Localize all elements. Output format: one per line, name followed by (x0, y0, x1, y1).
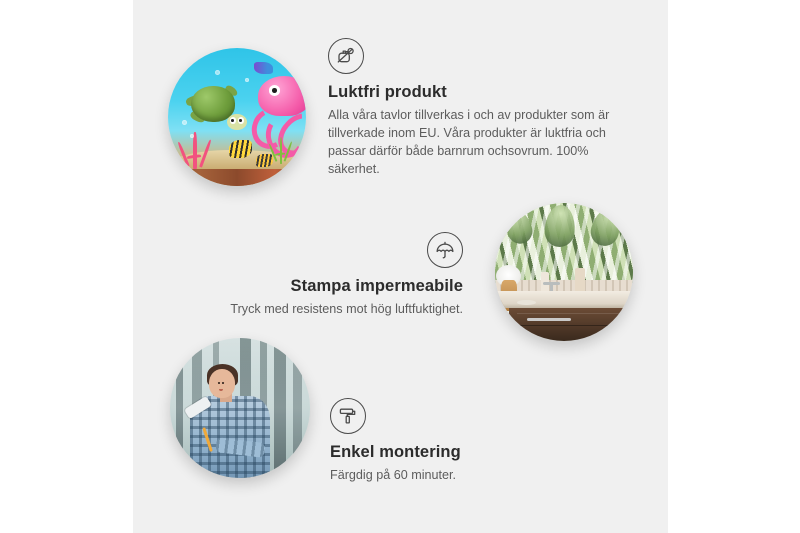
yellow-striped-fish (256, 154, 273, 166)
feature-waterproof: Stampa impermeabile Tryck med resistens … (188, 232, 463, 319)
feature-panel: Luktfri produkt Alla våra tavlor tillver… (133, 0, 668, 533)
no-odor-glyph (334, 44, 358, 68)
sea-turtle (187, 85, 248, 132)
sea-rock-band (168, 169, 306, 186)
feature-description: Färgdig på 60 minuter. (330, 467, 590, 485)
feature-easy-mounting: Enkel montering Färgdig på 60 minuter. (330, 398, 590, 485)
purple-fish (254, 62, 273, 74)
octopus-eye (269, 85, 280, 95)
bubble-decor (215, 70, 220, 75)
face (209, 369, 235, 398)
leaf-motif (501, 206, 535, 247)
leaf-motif (587, 205, 624, 250)
paint-roller-glyph (336, 404, 360, 428)
feature-description: Alla våra tavlor tillverkas i och av pro… (328, 107, 628, 179)
turtle-eye (230, 117, 236, 123)
woman-painter (187, 369, 274, 478)
umbrella-glyph (433, 238, 457, 262)
product-image-bathroom-scene (495, 203, 633, 341)
feature-title: Luktfri produkt (328, 83, 628, 102)
paint-roller-icon (330, 398, 366, 434)
bubble-decor (245, 78, 249, 82)
eye (222, 382, 224, 383)
wood-vanity (509, 308, 633, 341)
smile (219, 387, 223, 391)
feature-description: Tryck med resistens mot hög luftfuktighe… (188, 301, 463, 319)
leaf-motif (543, 204, 576, 248)
pink-coral (176, 128, 217, 169)
cabinet-handle (622, 313, 626, 330)
turtle-head (227, 114, 246, 130)
feature-title: Stampa impermeabile (188, 277, 463, 296)
stone-countertop (495, 291, 633, 308)
bubble-decor (190, 134, 194, 138)
eye (218, 382, 220, 383)
feature-title: Enkel montering (330, 443, 590, 462)
octopus-head (258, 76, 306, 116)
bubble-decor (182, 120, 187, 125)
turtle-eye (238, 117, 244, 123)
no-odor-perfume-bottle-icon (328, 38, 364, 74)
product-image-sea-scene (168, 48, 306, 186)
feature-odor-free: Luktfri produkt Alla våra tavlor tillver… (328, 38, 628, 178)
product-image-forest-painter-scene (170, 338, 310, 478)
drawer-handle (527, 318, 571, 321)
umbrella-icon (427, 232, 463, 268)
product-feature-infographic: Luktfri produkt Alla våra tavlor tillver… (0, 0, 800, 533)
